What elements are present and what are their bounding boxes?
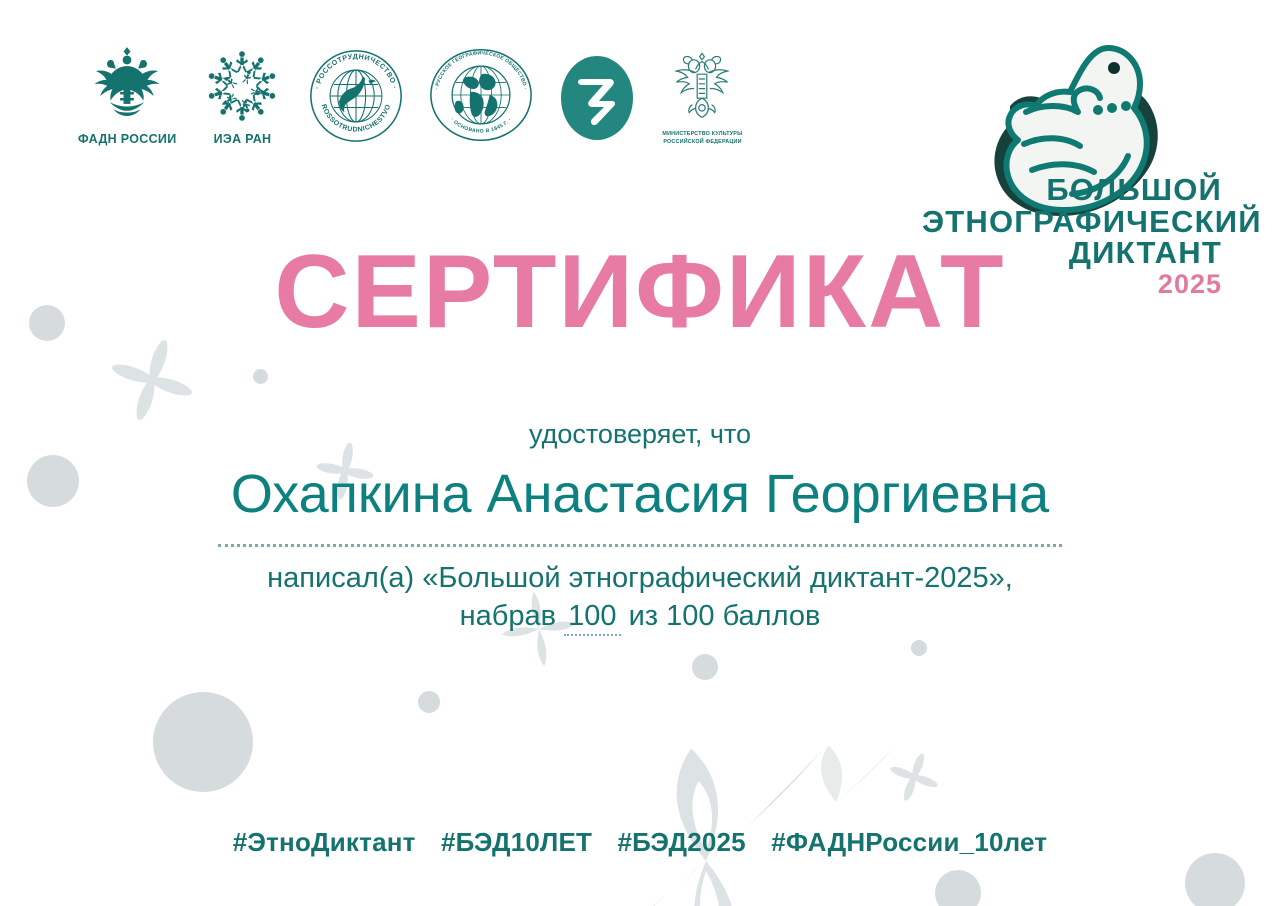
certificate-body-line-1: написал(а) «Большой этнографический дикт… — [0, 562, 1280, 595]
event-brand-block: БОЛЬШОЙ ЭТНОГРАФИЧЕСКИЙ ДИКТАНТ 2025 — [922, 26, 1222, 276]
score-suffix-label: из 100 баллов — [629, 600, 821, 632]
logo-caption-line1: МИНИСТЕРСТВО КУЛЬТУРЫ — [662, 131, 742, 138]
hashtag-item: #БЭД10ЛЕТ — [441, 827, 592, 857]
logo-ministry-of-culture: МИНИСТЕРСТВО КУЛЬТУРЫ РОССИЙСКОЙ ФЕДЕРАЦ… — [660, 47, 744, 146]
decor-star-icon — [108, 331, 196, 429]
score-prefix-label: набрав — [460, 600, 556, 632]
decor-circle — [253, 369, 268, 384]
hashtag-row: #ЭтноДиктант #БЭД10ЛЕТ #БЭД2025 #ФАДНРос… — [0, 827, 1280, 858]
brand-line-1: БОЛЬШОЙ — [922, 174, 1222, 206]
partner-logos: ФАДН РОССИИ — [78, 42, 744, 146]
logo-rossotrudnichestvo: · РОССОТРУДНИЧЕСТВО · ROSSOTRUDNICHESTVO — [308, 48, 404, 146]
brand-line-2: ЭТНОГРАФИЧЕСКИЙ — [922, 206, 1222, 238]
iea-ran-figures-icon — [200, 44, 284, 128]
score-number: 100 — [568, 600, 616, 632]
certificate-subtitle: удостоверяет, что — [0, 419, 1280, 450]
logo-iea-ran: ИЭА РАН — [200, 44, 284, 146]
fadn-russia-eagle-icon — [84, 42, 170, 128]
rossotrudnichestvo-globe-icon: · РОССОТРУДНИЧЕСТВО · ROSSOTRUDNICHESTVO — [308, 48, 404, 144]
score-underline — [564, 634, 620, 636]
russian-geographical-society-globe-icon: · РУССКОЕ ГЕОГРАФИЧЕСКОЕ ОБЩЕСТВО · · ОС… — [428, 46, 534, 144]
hashtag-item: #БЭД2025 — [618, 827, 746, 857]
decor-circle — [692, 654, 718, 680]
logo-fadn-russia: ФАДН РОССИИ — [78, 42, 176, 146]
logo-russian-geographical-society: · РУССКОЕ ГЕОГРАФИЧЕСКОЕ ОБЩЕСТВО · · ОС… — [428, 46, 534, 146]
decor-star-large-icon — [578, 736, 834, 906]
certificate-page: ФАДН РОССИИ — [0, 0, 1280, 906]
decor-circle — [911, 640, 927, 656]
logo-etnodiktant-mark — [558, 54, 636, 146]
decor-star-icon — [888, 749, 940, 805]
logo-caption-line2: РОССИЙСКОЙ ФЕДЕРАЦИИ — [663, 139, 741, 146]
hashtag-item: #ФАДНРоссии_10лет — [771, 827, 1047, 857]
decor-circle — [1185, 853, 1245, 906]
decor-circle — [418, 691, 440, 713]
score-value: 100 — [564, 600, 620, 633]
event-wordmark: БОЛЬШОЙ ЭТНОГРАФИЧЕСКИЙ ДИКТАНТ 2025 — [922, 174, 1222, 300]
recipient-name: Охапкина Анастасия Георгиевна — [0, 464, 1280, 524]
certificate-body-line-2: набрав 100 из 100 баллов — [0, 600, 1280, 633]
etnodiktant-e-icon — [558, 54, 636, 142]
logo-caption: ФАДН РОССИИ — [78, 132, 176, 146]
decor-circle — [153, 692, 253, 792]
logo-caption: ИЭА РАН — [214, 132, 272, 146]
ministry-of-culture-eagle-icon — [660, 47, 744, 127]
recipient-underline — [218, 544, 1062, 550]
brand-line-3: ДИКТАНТ — [922, 237, 1222, 269]
brand-year: 2025 — [922, 269, 1222, 300]
decor-circle — [935, 870, 981, 906]
hashtag-item: #ЭтноДиктант — [233, 827, 416, 857]
